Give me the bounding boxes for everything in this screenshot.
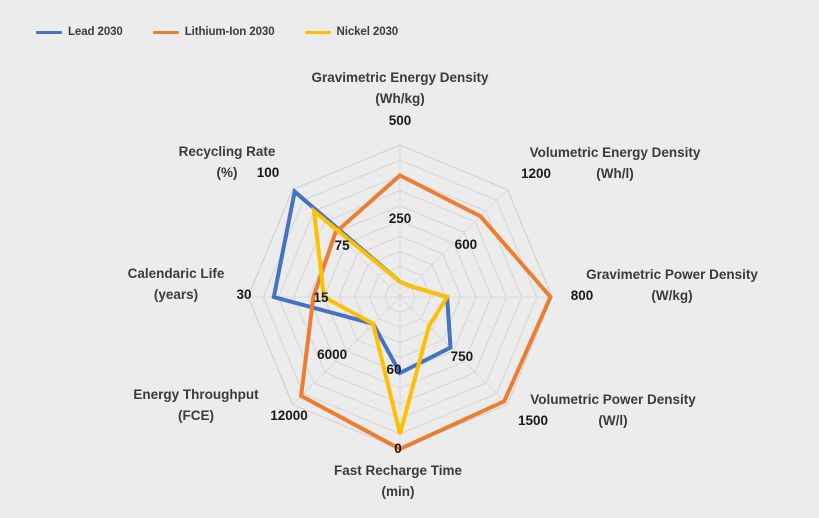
axis-max-value: 800: [571, 288, 594, 303]
axis-label-layer: Gravimetric Energy Density(Wh/kg)500Volu…: [128, 70, 759, 499]
axis-unit: (Wh/l): [596, 166, 633, 181]
axis-title: Energy Throughput: [133, 387, 259, 402]
axis-title: Volumetric Power Density: [530, 392, 696, 407]
axis-title: Fast Recharge Time: [334, 463, 463, 478]
axis-max-value: 0: [394, 441, 402, 456]
axis-mid-tick: 750: [451, 349, 474, 364]
axis-max-value: 100: [257, 165, 280, 180]
axis-title: Recycling Rate: [179, 144, 276, 159]
axis-title: Volumetric Energy Density: [530, 145, 701, 160]
axis-max-value: 500: [389, 113, 412, 128]
axis-max-value: 30: [236, 287, 251, 302]
axis-unit: (years): [154, 287, 198, 302]
axis-unit: (Wh/kg): [375, 91, 425, 106]
axis-max-value: 1200: [521, 166, 551, 181]
axis-mid-tick: 6000: [317, 347, 347, 362]
axis-mid-tick: 75: [335, 238, 351, 253]
axis-title: Gravimetric Energy Density: [311, 70, 489, 85]
axis-title: Gravimetric Power Density: [586, 267, 758, 282]
axis-mid-tick: 15: [313, 290, 329, 305]
axis-title: Calendaric Life: [128, 266, 225, 281]
axis-unit: (W/kg): [651, 288, 692, 303]
axis-mid-tick: 600: [455, 237, 478, 252]
axis-mid-tick: 60: [386, 362, 401, 377]
axis-unit: (W/l): [598, 413, 627, 428]
axis-max-value: 1500: [518, 413, 548, 428]
axis-unit: (FCE): [178, 408, 214, 423]
axis-max-value: 12000: [270, 408, 308, 423]
axis-unit: (%): [217, 165, 238, 180]
radar-chart-container: Lead 2030Lithium-Ion 2030Nickel 2030 Gra…: [0, 0, 819, 518]
axis-mid-tick: 250: [389, 211, 412, 226]
radar-chart-svg: Gravimetric Energy Density(Wh/kg)500Volu…: [0, 0, 819, 518]
axis-unit: (min): [382, 484, 415, 499]
